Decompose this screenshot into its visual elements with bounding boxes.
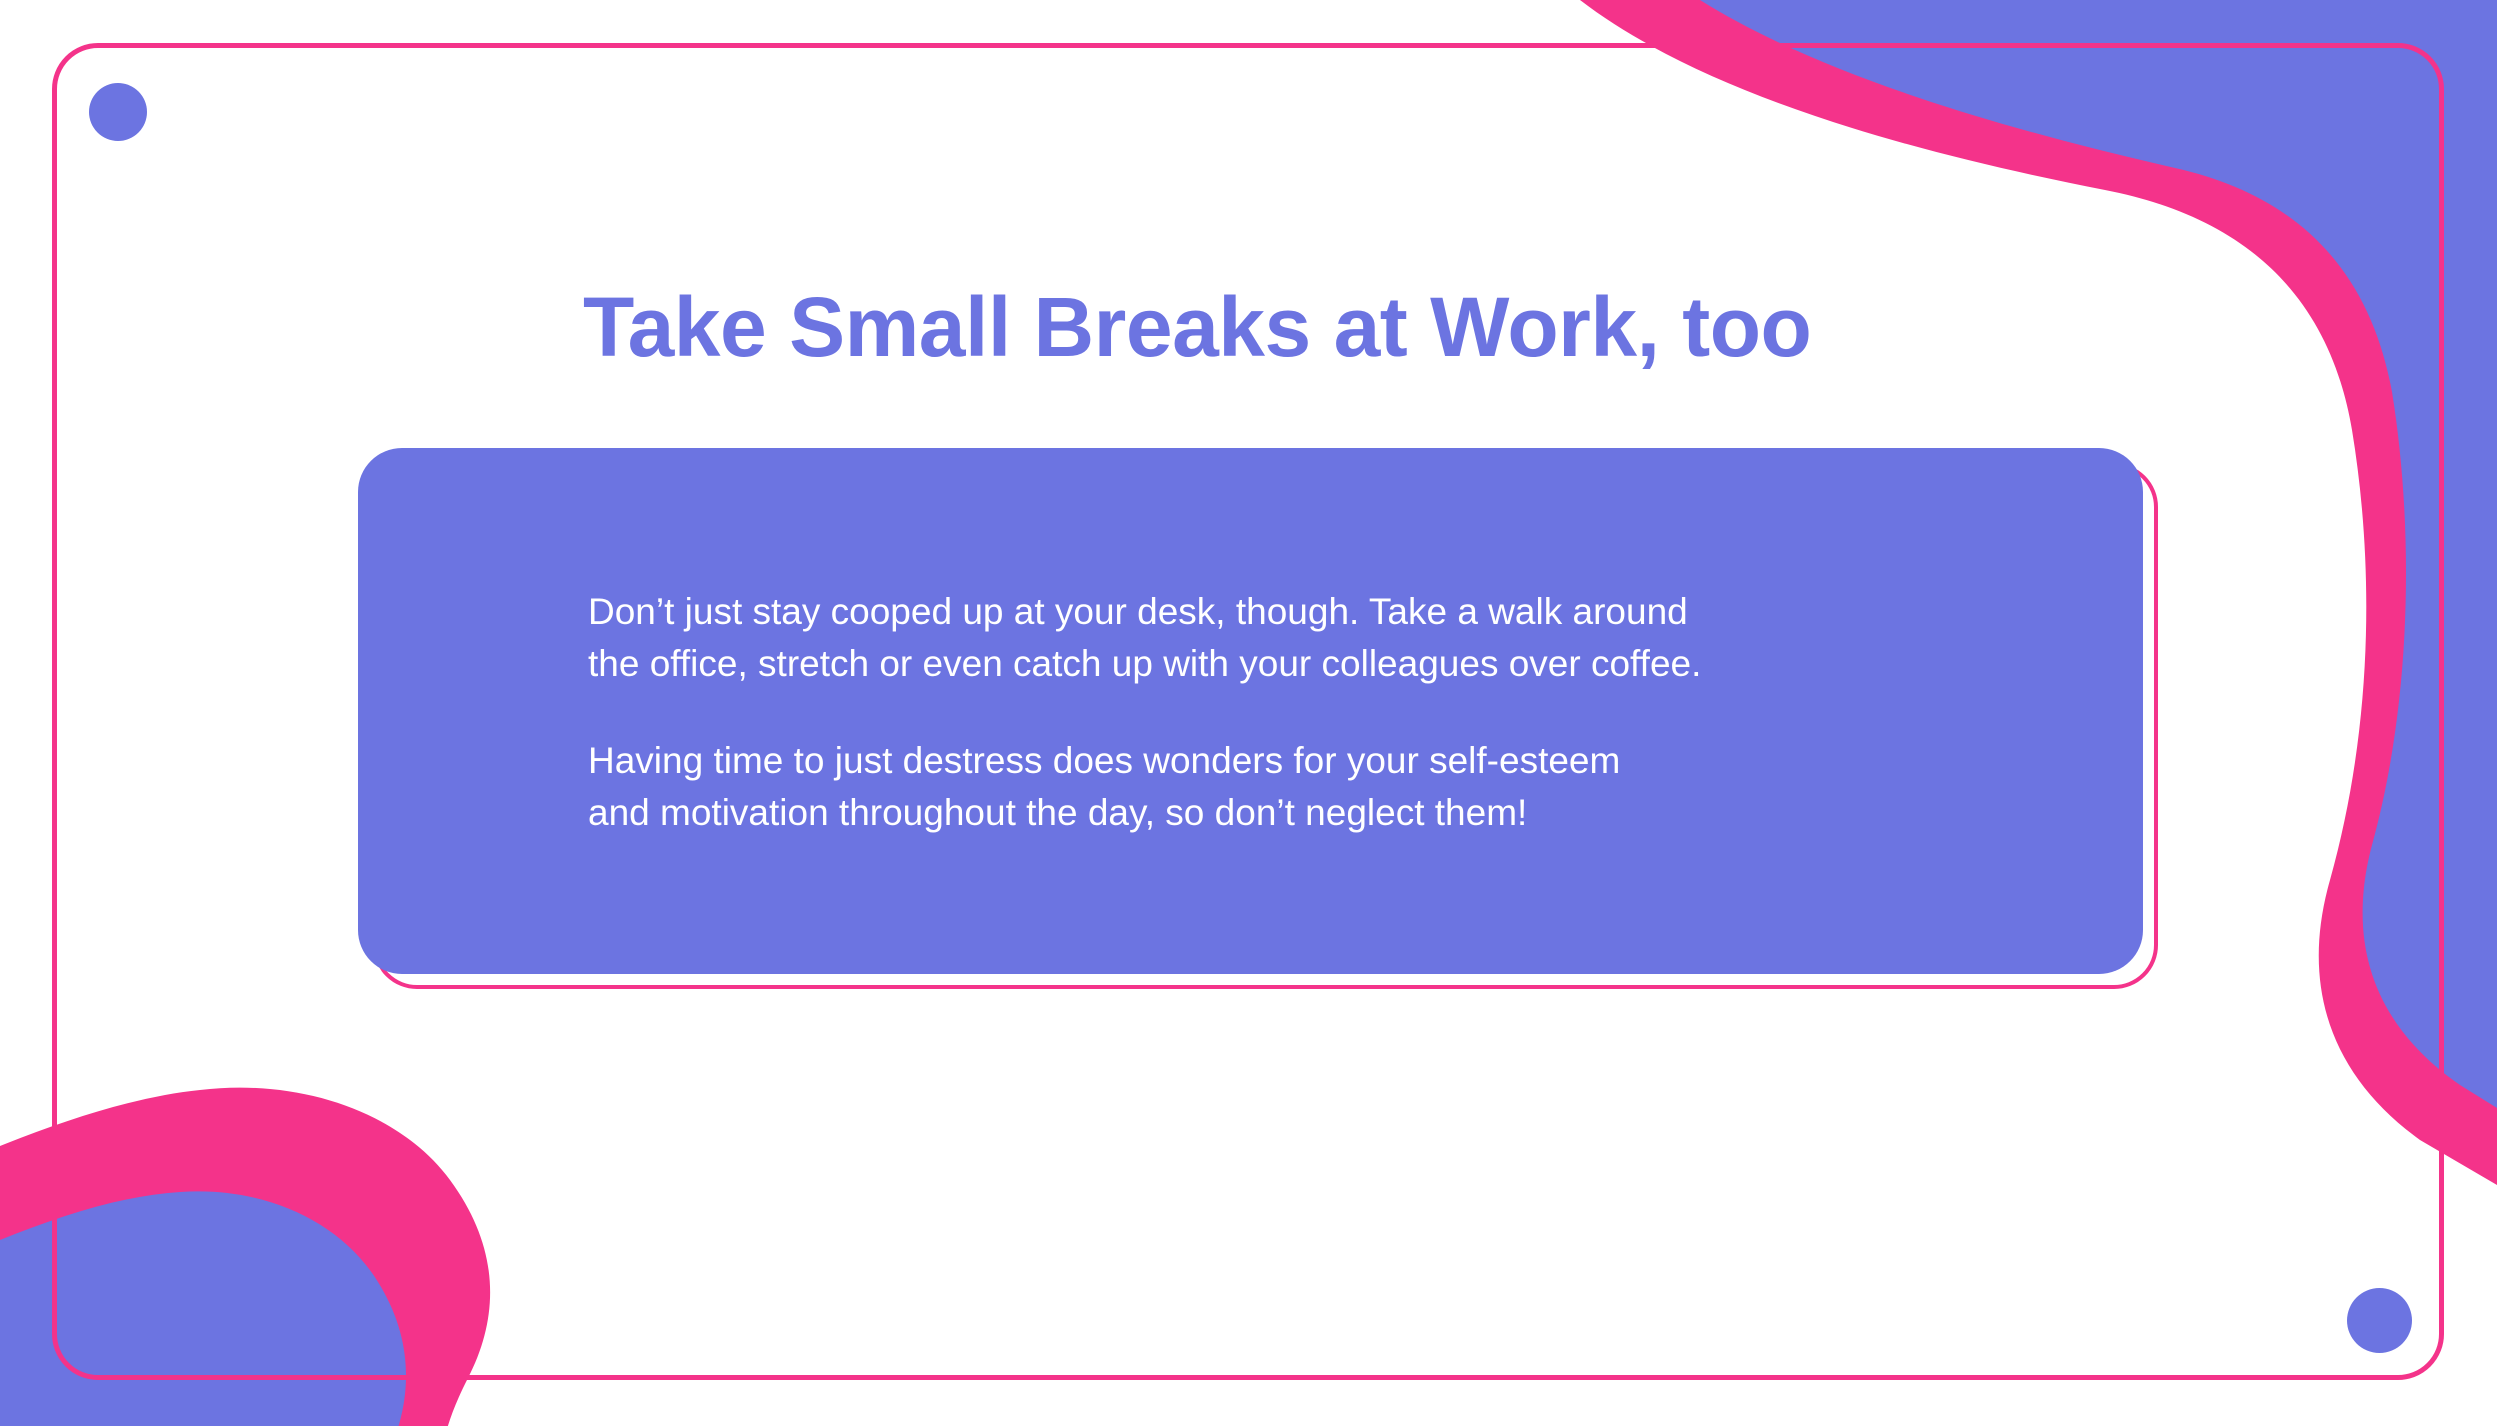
page-title: Take Small Breaks at Work, too [583, 281, 1811, 373]
circle-dot-bottom-right-icon [2347, 1288, 2412, 1353]
content-card: Don’t just stay cooped up at your desk, … [358, 448, 2143, 974]
body-paragraph-1: Don’t just stay cooped up at your desk, … [588, 586, 1988, 690]
card-body-text: Don’t just stay cooped up at your desk, … [588, 586, 1988, 839]
circle-dot-top-left-icon [89, 83, 147, 141]
slide-canvas: Take Small Breaks at Work, too Don’t jus… [0, 0, 2497, 1426]
body-paragraph-2: Having time to just destress does wonder… [588, 735, 1988, 839]
